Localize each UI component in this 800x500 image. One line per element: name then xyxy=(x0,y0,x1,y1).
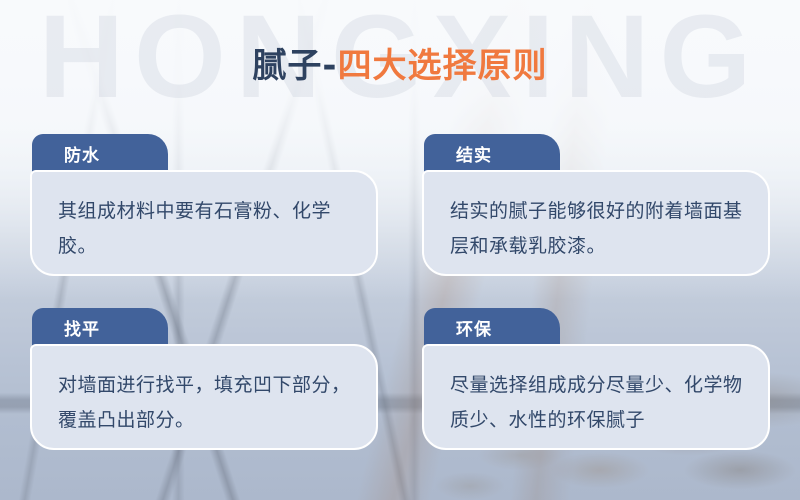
card-body-eco: 尽量选择组成成分尽量少、化学物质少、水性的环保腻子 xyxy=(422,344,770,450)
card-body-sturdy: 结实的腻子能够很好的附着墙面基层和承载乳胶漆。 xyxy=(422,170,770,276)
card-text: 对墙面进行找平，填充凹下部分，覆盖凸出部分。 xyxy=(58,368,352,438)
card-tab-leveling: 找平 xyxy=(32,308,168,346)
principle-card-sturdy: 结实 结实的腻子能够很好的附着墙面基层和承载乳胶漆。 xyxy=(422,134,770,276)
page-title-prefix: 腻子- xyxy=(252,46,337,86)
card-tab-label: 环保 xyxy=(456,315,492,340)
card-tab-label: 结实 xyxy=(456,141,492,166)
card-body-waterproof: 其组成材料中要有石膏粉、化学胶。 xyxy=(30,170,378,276)
page-title-accent: 四大选择原则 xyxy=(338,46,548,86)
card-text: 结实的腻子能够很好的附着墙面基层和承载乳胶漆。 xyxy=(450,194,744,264)
card-body-leveling: 对墙面进行找平，填充凹下部分，覆盖凸出部分。 xyxy=(30,344,378,450)
card-tab-sturdy: 结实 xyxy=(424,134,560,172)
principle-card-eco: 环保 尽量选择组成成分尽量少、化学物质少、水性的环保腻子 xyxy=(422,308,770,450)
card-tab-label: 防水 xyxy=(64,141,100,166)
page-title: 腻子-四大选择原则 xyxy=(0,38,800,87)
card-tab-label: 找平 xyxy=(64,315,100,340)
principle-card-leveling: 找平 对墙面进行找平，填充凹下部分，覆盖凸出部分。 xyxy=(30,308,378,450)
card-text: 其组成材料中要有石膏粉、化学胶。 xyxy=(58,194,352,264)
card-tab-waterproof: 防水 xyxy=(32,134,168,172)
principle-card-grid: 防水 其组成材料中要有石膏粉、化学胶。 结实 结实的腻子能够很好的附着墙面基层和… xyxy=(30,134,770,476)
principle-card-waterproof: 防水 其组成材料中要有石膏粉、化学胶。 xyxy=(30,134,378,276)
card-tab-eco: 环保 xyxy=(424,308,560,346)
card-text: 尽量选择组成成分尽量少、化学物质少、水性的环保腻子 xyxy=(450,368,744,438)
